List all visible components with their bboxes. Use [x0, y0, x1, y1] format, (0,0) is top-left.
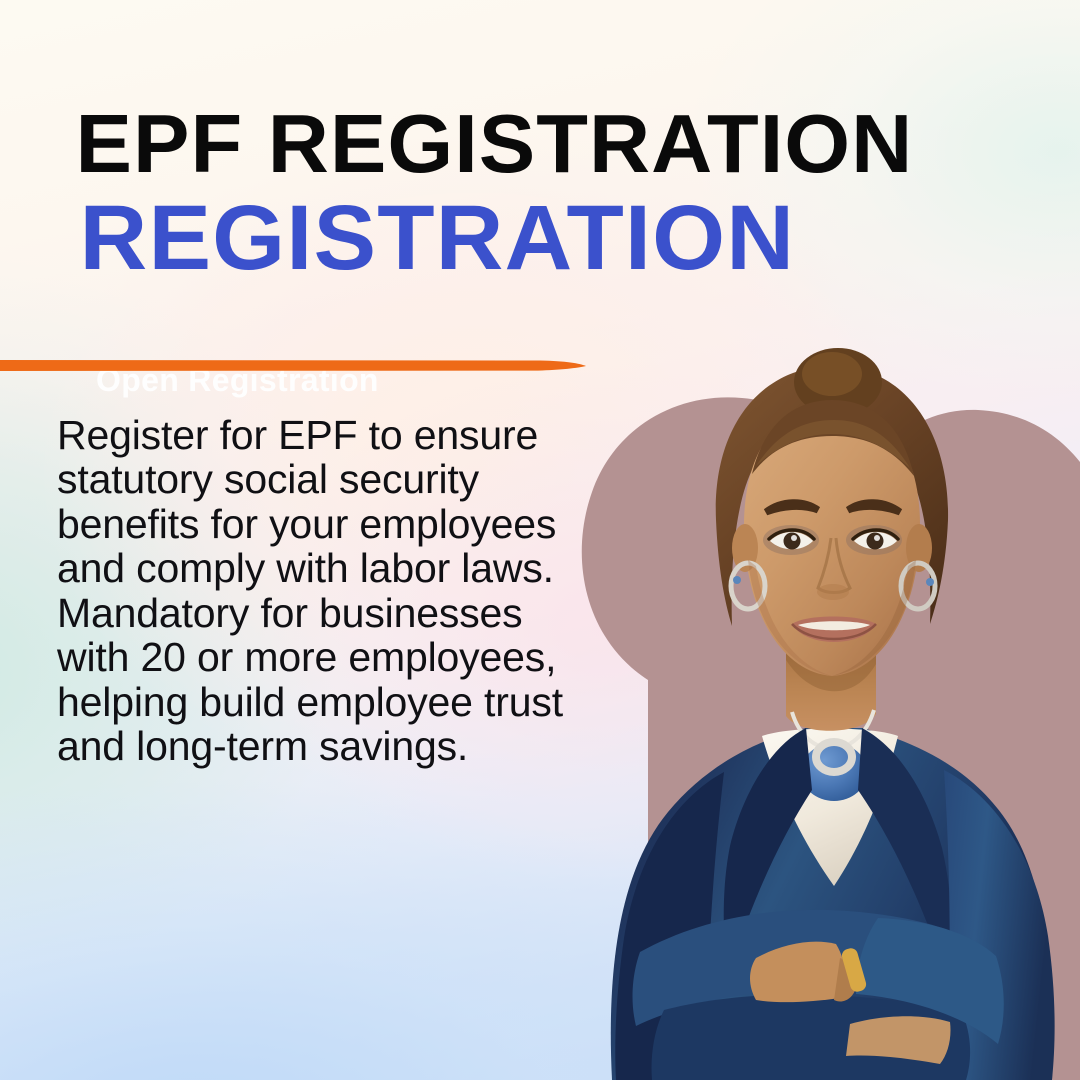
page-title-accent: REGISTRATION	[0, 194, 1080, 282]
heading-block: EPF REGISTRATION REGISTRATION	[0, 104, 1080, 282]
body-paragraph: Register for EPF to ensure statutory soc…	[57, 413, 567, 769]
poster-canvas: EPF REGISTRATION REGISTRATION Open Regis…	[0, 0, 1080, 1080]
page-title-primary: EPF REGISTRATION	[0, 104, 1080, 184]
orange-divider	[0, 356, 1080, 376]
